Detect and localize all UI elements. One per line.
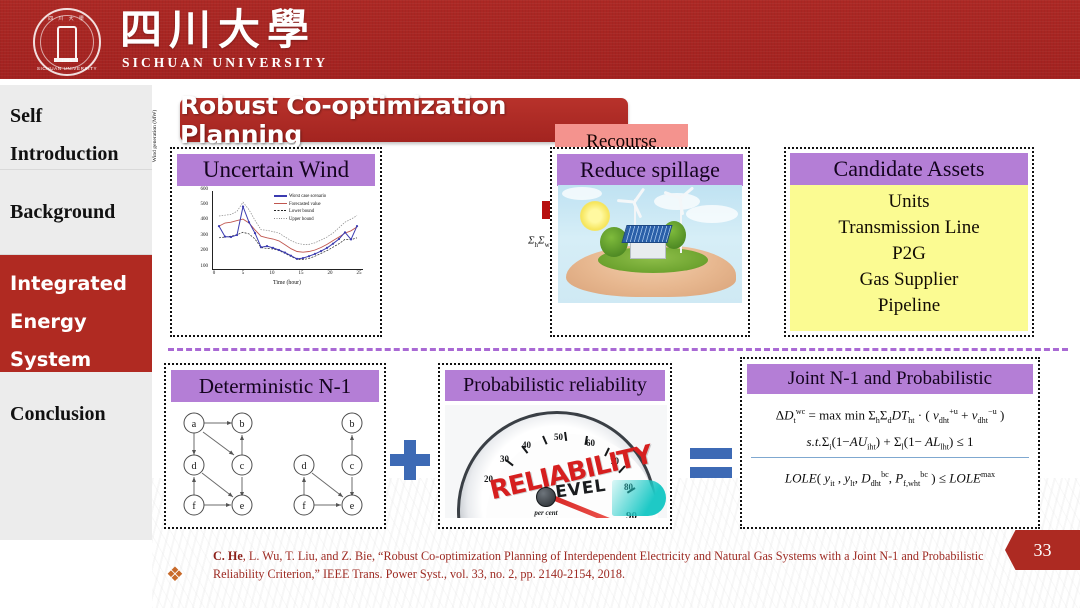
chart-x-tick: 20 bbox=[324, 271, 336, 276]
chart-legend: Worst case scenario Forecasted value Low… bbox=[274, 193, 326, 223]
asset-item: Transmission Line bbox=[790, 215, 1028, 241]
sidebar-item-label: Integrated bbox=[10, 265, 152, 303]
sidebar-item-background[interactable]: Background bbox=[0, 170, 152, 255]
sidebar-item-label-2: Introduction bbox=[10, 135, 152, 173]
cloud-icon bbox=[686, 205, 738, 223]
equation-delta-d: ΔDtwc = max min ΣhΣdDTht · ( vdht+u + vd… bbox=[747, 407, 1033, 425]
chart-y-tick: 400 bbox=[190, 217, 208, 222]
graph-node-label: d bbox=[302, 461, 307, 472]
plus-operator-icon bbox=[390, 440, 430, 480]
gauge-unit-label: per cent meter bbox=[516, 510, 576, 518]
graph-node-label: e bbox=[350, 501, 355, 512]
equation-lole: LOLE( yit , ylt, Ddhtbc, Pf,whtbc ) ≤ LO… bbox=[747, 470, 1033, 488]
gauge-tick-label: 30 bbox=[500, 454, 509, 464]
wind-generation-chart: Wind generation (MW) 600 500 400 300 200… bbox=[178, 185, 374, 290]
chart-x-tick: 0 bbox=[208, 271, 220, 276]
slide-header: 四 川 大 學 1896 SICHUAN UNIVERSITY 四川大學 SIC… bbox=[0, 0, 1080, 82]
panel-reduce-spillage: Reduce spillage bbox=[550, 147, 750, 337]
chart-y-tick: 100 bbox=[190, 264, 208, 269]
panel-candidate-assets: Candidate Assets Units Transmission Line… bbox=[784, 147, 1034, 337]
sidebar-item-conclusion[interactable]: Conclusion bbox=[0, 372, 152, 457]
graph-node-label: c bbox=[350, 461, 355, 472]
row-divider bbox=[168, 348, 1068, 351]
sidebar-item-integrated-energy-system[interactable]: Integrated Energy System bbox=[0, 255, 152, 372]
panel-heading-uncertain-wind: Uncertain Wind bbox=[177, 154, 375, 186]
panel-heading-candidate-assets: Candidate Assets bbox=[790, 153, 1028, 185]
graph-node-label: a bbox=[192, 419, 197, 430]
chart-x-tick: 15 bbox=[295, 271, 307, 276]
reliability-gauge-illustration: 20 30 40 50 60 70 80 90 100 RELIABILITY … bbox=[445, 405, 667, 518]
asset-item: Units bbox=[790, 189, 1028, 215]
legend-entry: Lower bound bbox=[274, 208, 326, 216]
panel-joint-n1-probabilistic: Joint N-1 and Probabilistic ΔDtwc = max … bbox=[740, 357, 1040, 529]
graph-node-label: b bbox=[240, 419, 245, 430]
legend-entry: Forecasted value bbox=[274, 201, 326, 209]
solar-panel-icon bbox=[621, 225, 672, 243]
chart-y-axis-label: Wind generation (MW) bbox=[152, 91, 158, 181]
chart-y-tick: 200 bbox=[190, 248, 208, 253]
chart-y-tick: 300 bbox=[190, 233, 208, 238]
footer-logo-icon: ❖ bbox=[163, 562, 187, 586]
legend-label: Lower bound bbox=[289, 209, 314, 214]
graph-node-label: b bbox=[350, 419, 355, 430]
turbine-blade bbox=[633, 188, 645, 203]
network-graph-diagram: a b d c f e b d c bbox=[170, 405, 380, 525]
chart-y-tick: 500 bbox=[190, 202, 208, 207]
equals-operator-icon bbox=[690, 448, 732, 478]
slide-body: Robust Co-optimization Planning Uncertai… bbox=[152, 85, 1080, 608]
panel-deterministic-n1: Deterministic N-1 bbox=[164, 363, 386, 529]
turbine-blade bbox=[617, 200, 634, 204]
legend-label: Upper bound bbox=[289, 217, 314, 222]
chart-y-tick: 600 bbox=[190, 187, 208, 192]
chart-x-tick: 5 bbox=[237, 271, 249, 276]
legend-label: Forecasted value bbox=[289, 202, 321, 207]
gauge-tick-label: 50 bbox=[554, 432, 563, 442]
chart-x-tick: 25 bbox=[353, 271, 365, 276]
asset-item: Pipeline bbox=[790, 293, 1028, 319]
gauge-hub bbox=[536, 487, 556, 507]
panel-heading-deterministic-n1: Deterministic N-1 bbox=[171, 370, 379, 402]
asset-item: Gas Supplier bbox=[790, 267, 1028, 293]
equation-divider bbox=[751, 457, 1029, 458]
seal-top-text: 四 川 大 學 bbox=[35, 15, 99, 22]
graph-node-label: e bbox=[240, 501, 245, 512]
joint-equations: ΔDtwc = max min ΣhΣdDTht · ( vdht+u + vd… bbox=[747, 395, 1033, 523]
renewable-energy-illustration bbox=[558, 185, 742, 303]
gauge-unit-line2: meter bbox=[538, 516, 554, 518]
panel-heading-joint: Joint N-1 and Probabilistic bbox=[747, 364, 1033, 394]
chart-x-axis-label: Time (hour) bbox=[212, 280, 362, 286]
citation-text: C. He, L. Wu, T. Liu, and Z. Bie, “Robus… bbox=[213, 548, 1003, 583]
citation-rest: , L. Wu, T. Liu, and Z. Bie, “Robust Co-… bbox=[213, 549, 984, 581]
gauge-tick-label: 60 bbox=[586, 438, 595, 448]
legend-entry: Worst case scenario bbox=[274, 193, 326, 201]
panel-uncertain-wind: Uncertain Wind Wind generation (MW) 600 … bbox=[170, 147, 382, 337]
sidebar-item-label: Background bbox=[10, 193, 152, 231]
panel-probabilistic-reliability: Probabilistic reliability 20 30 40 50 60… bbox=[438, 363, 672, 529]
sidebar-nav: Self Introduction Background Integrated … bbox=[0, 85, 152, 540]
page-number-badge: 33 bbox=[1005, 530, 1080, 570]
seal-arc-text: SICHUAN UNIVERSITY bbox=[35, 66, 99, 71]
page-number: 33 bbox=[1034, 540, 1052, 561]
sun-icon bbox=[580, 201, 610, 231]
gauge-face: 20 30 40 50 60 70 80 90 100 RELIABILITY … bbox=[457, 411, 657, 518]
legend-label: Worst case scenario bbox=[289, 194, 326, 199]
asset-item: P2G bbox=[790, 241, 1028, 267]
chart-x-tick: 10 bbox=[266, 271, 278, 276]
equation-constraint: s.t.Σi(1−AUiht) + Σl(1− ALlht) ≤ 1 bbox=[747, 434, 1033, 452]
sidebar-item-label: Self bbox=[10, 97, 152, 135]
legend-swatch-lower bbox=[274, 210, 287, 211]
citation-authors: C. He bbox=[213, 549, 243, 563]
panel-heading-reduce-spillage: Reduce spillage bbox=[557, 154, 743, 186]
seal-year: 1896 bbox=[35, 58, 99, 63]
sidebar-item-self-introduction[interactable]: Self Introduction bbox=[0, 85, 152, 170]
legend-swatch-worst-case bbox=[274, 195, 287, 196]
sidebar-item-label-2: Energy bbox=[10, 303, 152, 341]
sidebar-item-label: Conclusion bbox=[10, 395, 152, 433]
seal-tower-glyph bbox=[57, 26, 77, 58]
legend-entry: Upper bound bbox=[274, 216, 326, 224]
candidate-assets-list: Units Transmission Line P2G Gas Supplier… bbox=[790, 185, 1028, 331]
graph-node-label: d bbox=[192, 461, 197, 472]
graph-node-label: c bbox=[240, 461, 245, 472]
university-name-cn: 四川大學 bbox=[120, 6, 316, 54]
legend-swatch-forecast bbox=[274, 203, 287, 204]
university-name-en: SICHUAN UNIVERSITY bbox=[122, 55, 328, 71]
legend-swatch-upper bbox=[274, 218, 287, 219]
gauge-tick-label: 40 bbox=[522, 440, 531, 450]
university-seal-icon: 四 川 大 學 1896 SICHUAN UNIVERSITY bbox=[33, 8, 101, 76]
cloud-icon bbox=[562, 187, 602, 200]
panel-heading-probabilistic-reliability: Probabilistic reliability bbox=[445, 370, 665, 401]
